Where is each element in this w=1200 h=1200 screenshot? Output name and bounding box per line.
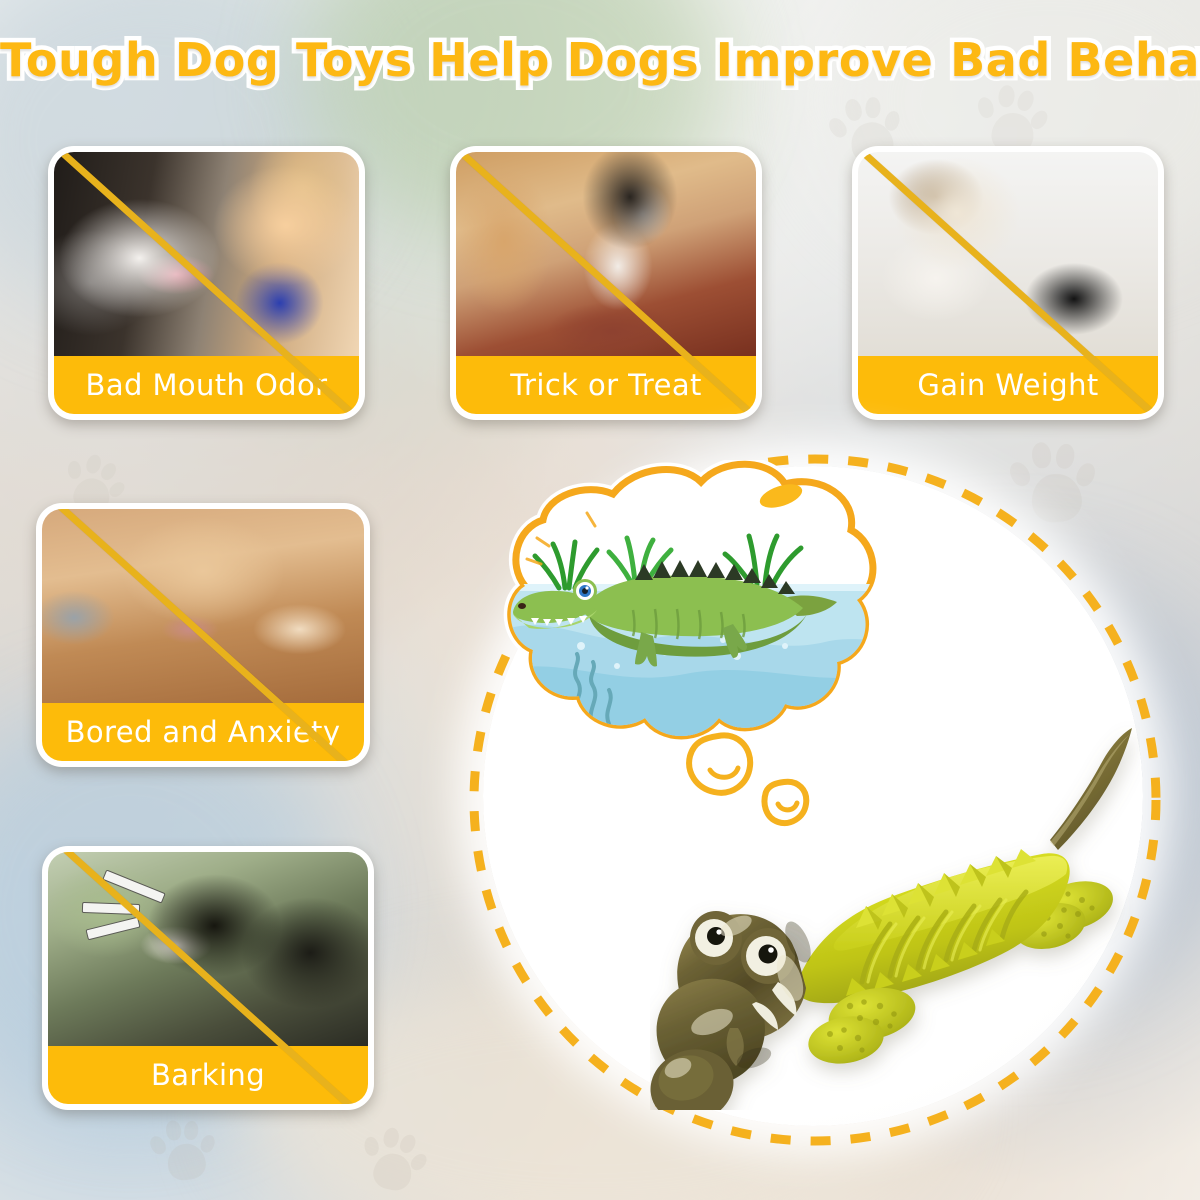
- card-photo-bored-and-anxiety: [42, 509, 364, 703]
- card-photo-gain-weight: [858, 152, 1158, 356]
- card-photo-trick-or-treat: [456, 152, 756, 356]
- problem-card-bad-mouth-odor[interactable]: Bad Mouth Odor: [48, 146, 365, 420]
- paw-print-watermark: [354, 1121, 436, 1200]
- thought-bubble: [485, 460, 885, 750]
- card-inner: Bad Mouth Odor: [54, 152, 359, 414]
- card-label-gain-weight: Gain Weight: [858, 356, 1158, 414]
- infographic-root: Tough Dog Toys Help Dogs Improve Bad Beh…: [0, 0, 1200, 1200]
- card-label-bored-and-anxiety: Bored and Anxiety: [42, 703, 364, 761]
- card-inner: Gain Weight: [858, 152, 1158, 414]
- product-showcase: [455, 440, 1175, 1160]
- card-label-barking: Barking: [48, 1046, 368, 1104]
- card-label-bad-mouth-odor: Bad Mouth Odor: [54, 356, 359, 414]
- bark-sound-lines-icon: [80, 879, 189, 941]
- problem-card-trick-or-treat[interactable]: Trick or Treat: [450, 146, 762, 420]
- problem-card-barking[interactable]: Barking: [42, 846, 374, 1110]
- card-photo-barking: [48, 852, 368, 1046]
- card-label-trick-or-treat: Trick or Treat: [456, 356, 756, 414]
- paw-print-watermark: [146, 1113, 225, 1188]
- card-inner: Barking: [48, 852, 368, 1104]
- problem-card-gain-weight[interactable]: Gain Weight: [852, 146, 1164, 420]
- problem-card-bored-and-anxiety[interactable]: Bored and Anxiety: [36, 503, 370, 767]
- product-crocodile-dog-toy[interactable]: [650, 710, 1140, 1110]
- card-inner: Trick or Treat: [456, 152, 756, 414]
- card-inner: Bored and Anxiety: [42, 509, 364, 761]
- page-title: Tough Dog Toys Help Dogs Improve Bad Beh…: [0, 33, 1200, 87]
- card-photo-bad-mouth-odor: [54, 152, 359, 356]
